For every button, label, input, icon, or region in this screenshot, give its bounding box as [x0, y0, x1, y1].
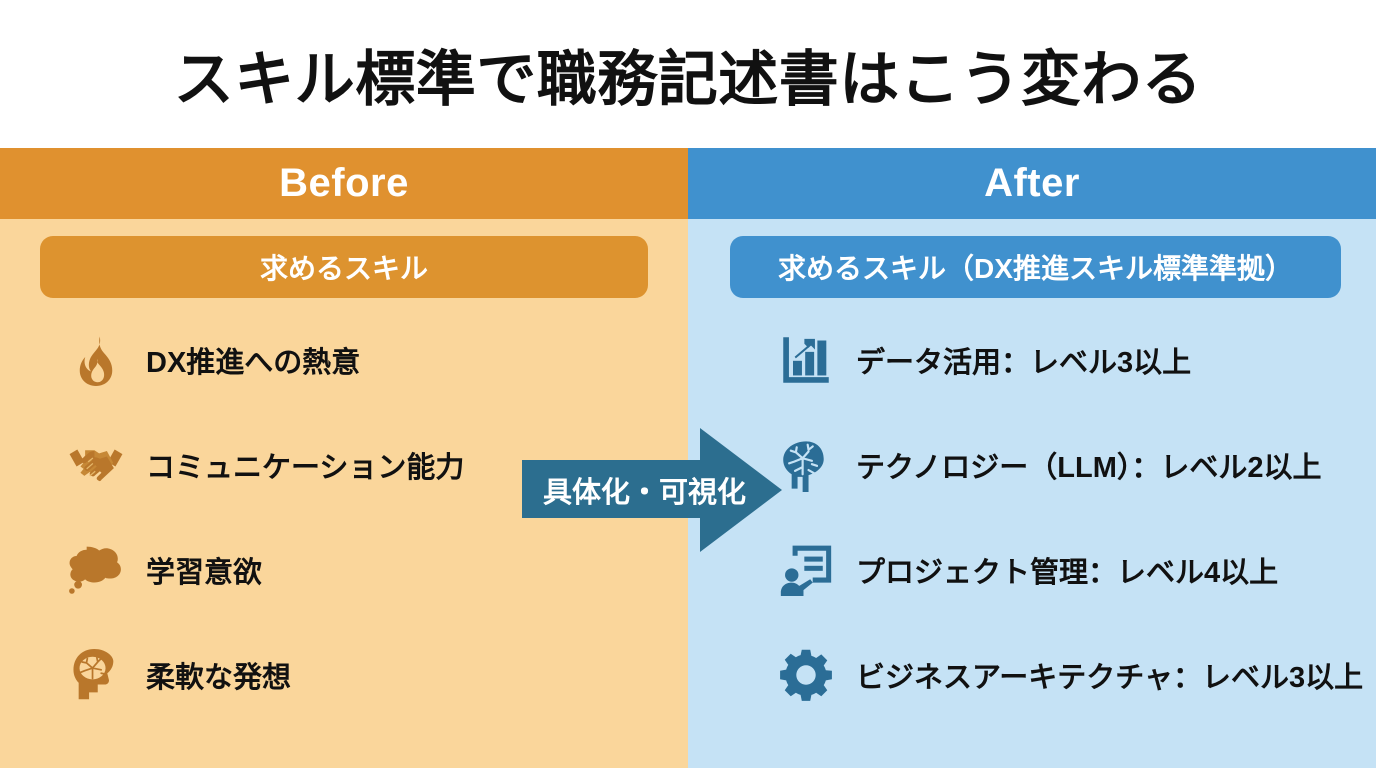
before-item-3-label: 柔軟な発想: [146, 654, 291, 696]
before-item-3: 柔軟な発想: [68, 643, 291, 707]
thought-bubble-icon: [68, 542, 124, 598]
presentation-person-icon: [778, 542, 834, 598]
transition-arrow: 具体化・可視化: [522, 420, 782, 560]
flame-icon: [68, 332, 124, 388]
before-item-0-label: DX推進への熱意: [146, 339, 360, 381]
after-item-1: テクノロジー（LLM）：レベル2以上: [778, 433, 1321, 497]
right-arrow-icon: [522, 420, 782, 560]
handshake-icon: [68, 437, 124, 493]
slide-root: スキル標準で職務記述書はこう変わる Before 求めるスキル DX推進への熱意: [0, 0, 1376, 768]
before-item-2: 学習意欲: [68, 538, 262, 602]
head-brain-icon: [68, 647, 124, 703]
after-panel: After 求めるスキル（DX推進スキル標準準拠） データ活用：レベル3以上: [688, 148, 1376, 768]
brain-icon: [778, 437, 834, 493]
before-item-1: コミュニケーション能力: [68, 433, 464, 497]
after-item-1-label: テクノロジー（LLM）：レベル2以上: [856, 444, 1321, 486]
gear-icon: [778, 647, 834, 703]
after-item-3-label: ビジネスアーキテクチャ：レベル3以上: [856, 654, 1363, 696]
page-title: スキル標準で職務記述書はこう変わる: [174, 31, 1203, 118]
before-item-0: DX推進への熱意: [68, 328, 360, 392]
after-item-3: ビジネスアーキテクチャ：レベル3以上: [778, 643, 1363, 707]
title-bar: スキル標準で職務記述書はこう変わる: [0, 0, 1376, 148]
before-item-2-label: 学習意欲: [146, 549, 262, 591]
after-item-2: プロジェクト管理：レベル4以上: [778, 538, 1278, 602]
after-item-0-label: データ活用：レベル3以上: [856, 339, 1191, 381]
bar-chart-growth-icon: [778, 332, 834, 388]
before-item-1-label: コミュニケーション能力: [146, 444, 464, 486]
after-item-2-label: プロジェクト管理：レベル4以上: [856, 549, 1278, 591]
after-items-list: データ活用：レベル3以上 テクノロジー（LLM）：レベル2以上: [688, 148, 1376, 768]
after-item-0: データ活用：レベル3以上: [778, 328, 1191, 392]
